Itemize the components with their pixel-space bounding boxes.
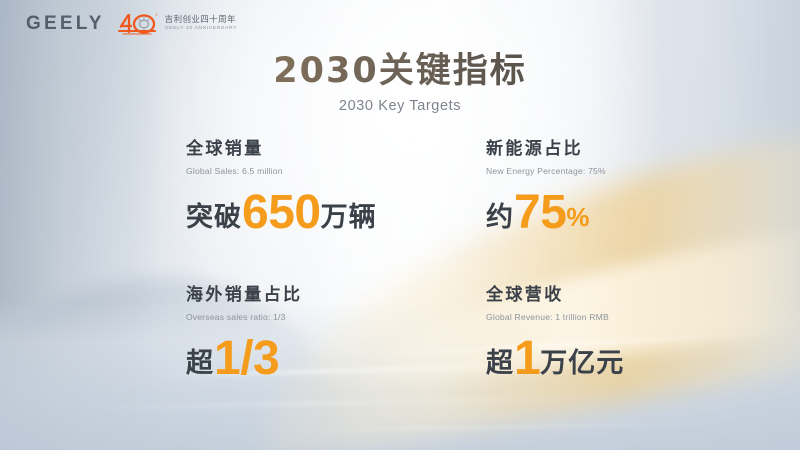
metric-value-suffix: 万亿元 — [540, 350, 624, 377]
metric-label: 新能源占比 — [486, 140, 656, 159]
geely-wordmark: GEELY — [26, 14, 105, 33]
metric-sublabel: Global Sales: 6.5 million — [186, 166, 486, 176]
metric-sublabel: New Energy Percentage: 75% — [486, 166, 656, 176]
metric-value: 超 1/3 — [186, 335, 486, 379]
metric-global-sales: 全球销量 Global Sales: 6.5 million 突破 650 万辆 — [186, 140, 486, 286]
anniversary-title-cn: 吉利创业四十周年 — [165, 16, 237, 25]
metric-label: 全球销量 — [186, 140, 486, 159]
metric-value-number: 75 — [514, 191, 566, 235]
metric-value: 约 75 % — [486, 189, 656, 233]
anniversary-lockup: ® 吉利创业四十周年 GEELY 40 ANNIVERSARY — [116, 11, 237, 36]
svg-text:®: ® — [155, 13, 158, 17]
anniversary-text: 吉利创业四十周年 GEELY 40 ANNIVERSARY — [165, 16, 237, 31]
metric-value: 突破 650 万辆 — [186, 189, 486, 233]
metric-sublabel: Global Revenue: 1 trillion RMB — [486, 312, 656, 322]
metric-value-number: 1/3 — [214, 337, 279, 381]
metric-label: 全球营收 — [486, 286, 656, 305]
page-title: 2030关键指标 — [0, 52, 800, 91]
metric-value-prefix: 超 — [486, 350, 514, 377]
metric-value-unit: % — [566, 204, 589, 230]
metric-global-revenue: 全球营收 Global Revenue: 1 trillion RMB 超 1 … — [486, 286, 656, 379]
metric-value: 超 1 万亿元 — [486, 335, 656, 379]
metric-value-number: 1 — [514, 337, 540, 381]
page-subtitle: 2030 Key Targets — [0, 98, 800, 114]
metric-value-number: 650 — [242, 191, 321, 235]
metric-value-prefix: 约 — [486, 204, 514, 231]
metric-value-prefix: 超 — [186, 350, 214, 377]
metric-sublabel: Overseas sales ratio: 1/3 — [186, 312, 486, 322]
metric-value-prefix: 突破 — [186, 204, 242, 231]
metric-value-suffix: 万辆 — [321, 204, 377, 231]
slide-title-block: 2030关键指标 2030 Key Targets — [0, 52, 800, 114]
brand-lockup: GEELY ® — [26, 11, 237, 36]
anniversary-title-en: GEELY 40 ANNIVERSARY — [165, 26, 237, 31]
metric-new-energy-percentage: 新能源占比 New Energy Percentage: 75% 约 75 % — [486, 140, 656, 286]
metric-overseas-sales-ratio: 海外销量占比 Overseas sales ratio: 1/3 超 1/3 — [186, 286, 486, 379]
key-targets-grid: 全球销量 Global Sales: 6.5 million 突破 650 万辆… — [186, 140, 656, 379]
presentation-slide: GEELY ® — [0, 0, 800, 450]
40-anniversary-logo-icon: ® — [116, 11, 158, 36]
metric-label: 海外销量占比 — [186, 286, 486, 305]
